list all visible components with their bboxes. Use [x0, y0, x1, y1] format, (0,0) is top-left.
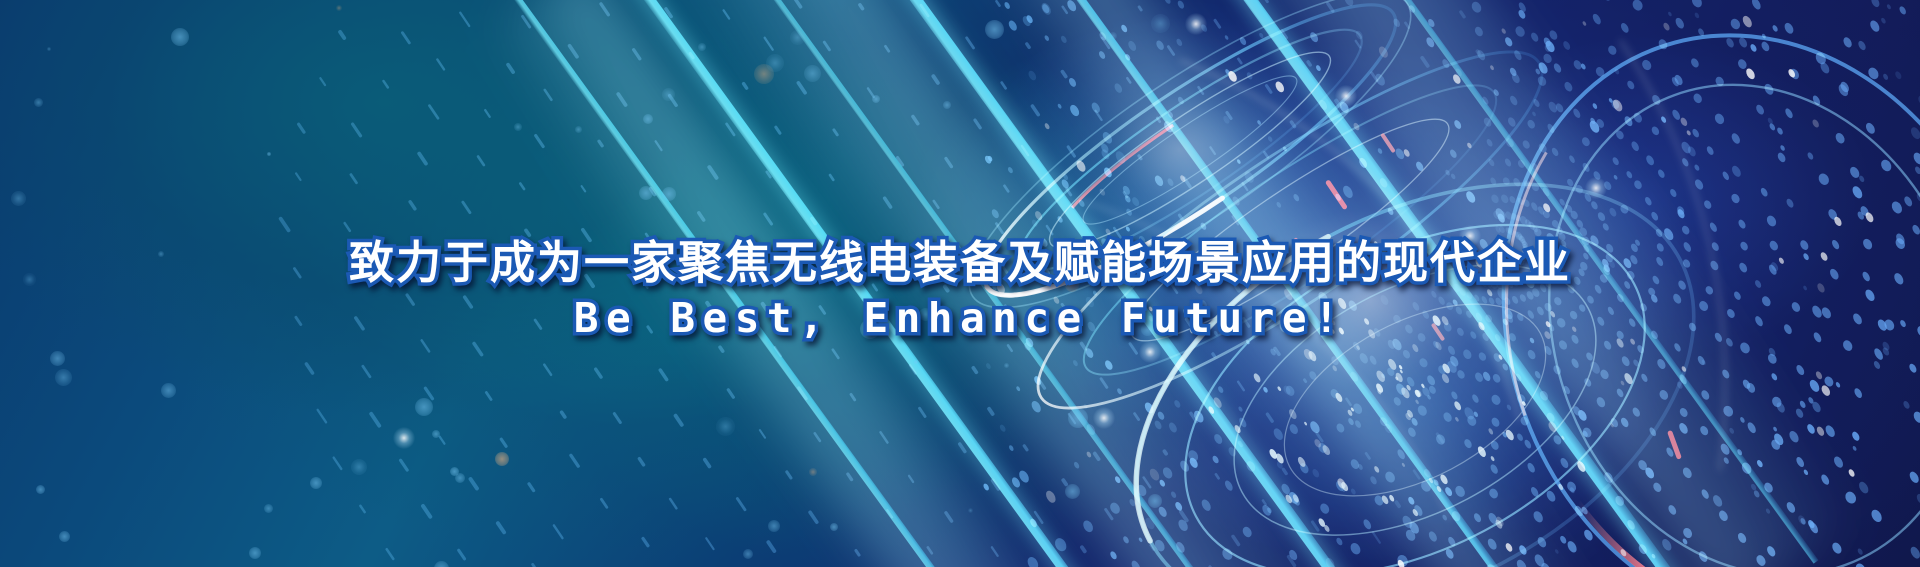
hero-banner: 致力于成为一家聚焦无线电装备及赋能场景应用的现代企业 Be Best, Enha… — [0, 0, 1920, 567]
bokeh-highlights — [0, 0, 1920, 567]
